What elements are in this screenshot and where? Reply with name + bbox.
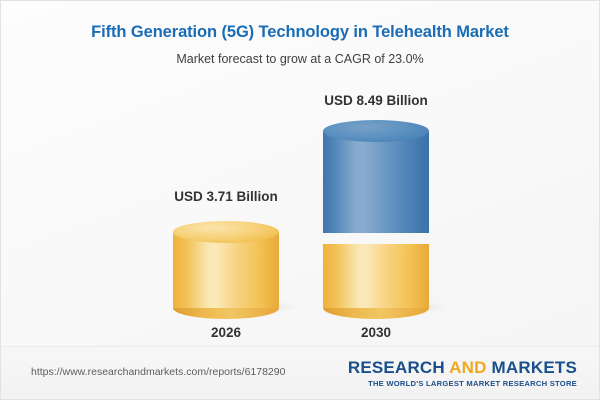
bar-group-2030: USD 8.49 Billion 2030 [296,81,456,346]
cylinder-2026[interactable] [173,221,279,308]
logo-text-markets: MARKETS [492,358,577,377]
bar-segment-base-2030[interactable] [323,233,429,308]
cylinder-top-2030 [323,120,429,142]
logo-tagline: THE WORLD'S LARGEST MARKET RESEARCH STOR… [348,377,577,388]
bar-segment-growth-2030[interactable] [323,120,429,233]
logo-wordmark: RESEARCH AND MARKETS [348,359,577,377]
cylinder-body-base-2030 [323,244,429,308]
logo-text-and: AND [449,358,491,377]
plot-area: USD 3.71 Billion 2026 USD 8.49 Billion [1,81,599,346]
bar-group-2026: USD 3.71 Billion 2026 [146,81,306,346]
value-label-2030: USD 8.49 Billion [296,93,456,108]
chart-subtitle: Market forecast to grow at a CAGR of 23.… [1,42,599,66]
chart-footer: https://www.researchandmarkets.com/repor… [1,346,599,399]
cylinder-2030[interactable] [323,120,429,308]
chart-header: Fifth Generation (5G) Technology in Tele… [1,1,599,66]
bar-segment-base-2026[interactable] [173,221,279,308]
category-label-2026: 2026 [146,325,306,340]
chart-card: Fifth Generation (5G) Technology in Tele… [0,0,600,400]
page-title: Fifth Generation (5G) Technology in Tele… [1,23,599,42]
research-and-markets-logo[interactable]: RESEARCH AND MARKETS THE WORLD'S LARGEST… [348,359,577,388]
report-url[interactable]: https://www.researchandmarkets.com/repor… [31,366,285,378]
category-label-2030: 2030 [296,325,456,340]
cylinder-body-2026 [173,232,279,308]
cylinder-top-2026 [173,221,279,243]
value-label-2026: USD 3.71 Billion [146,189,306,204]
cylinder-body-growth-2030 [323,131,429,233]
logo-text-research: RESEARCH [348,358,449,377]
